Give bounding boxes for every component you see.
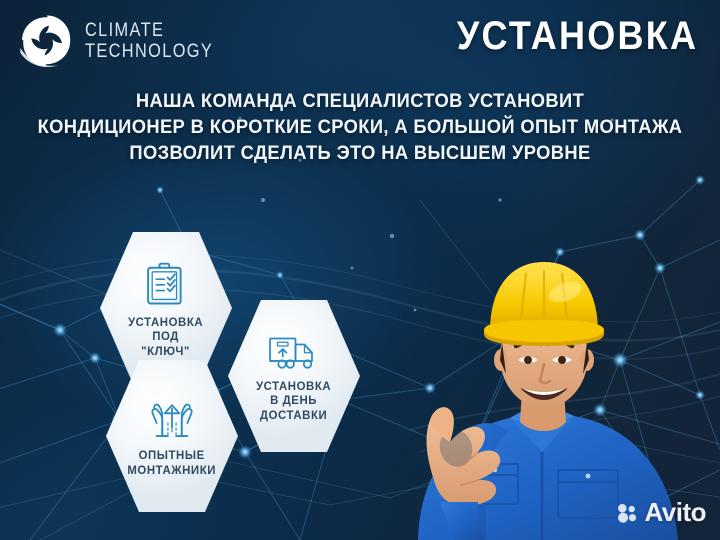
worker-photo <box>360 180 720 540</box>
caring-hands-icon <box>146 395 198 443</box>
avito-label: Avito <box>644 497 706 528</box>
caption-line-1: УСТАНОВКА <box>256 379 331 394</box>
clipboard-checklist-icon <box>140 258 192 310</box>
headline-line-3: ПОЗВОЛИТ СДЕЛАТЬ ЭТО НА ВЫСШЕМ УРОВНЕ <box>22 140 699 166</box>
caption-line-2: В ДЕНЬ <box>256 393 331 408</box>
caption-line-1: ОПЫТНЫЕ <box>128 448 217 463</box>
caption-line-1: УСТАНОВКА <box>128 315 203 330</box>
feature-hex-same-day-caption: УСТАНОВКА В ДЕНЬ ДОСТАВКИ <box>254 379 333 423</box>
headline-block: НАША КОМАНДА СПЕЦИАЛИСТОВ УСТАНОВИТ КОНД… <box>0 88 720 166</box>
feature-hex-experienced-caption: ОПЫТНЫЕ МОНТАЖНИКИ <box>125 448 218 477</box>
caption-line-3: ДОСТАВКИ <box>256 408 331 423</box>
brand-name-line2: TECHNOLOGY <box>85 42 213 61</box>
caption-line-2: ПОД <box>128 329 203 344</box>
headline-line-1: НАША КОМАНДА СПЕЦИАЛИСТОВ УСТАНОВИТ <box>22 88 699 114</box>
promo-poster: CLIMATE TECHNOLOGY УСТАНОВКА НАША КОМАНД… <box>0 0 720 540</box>
delivery-truck-icon <box>267 330 321 374</box>
brand-name-line1: CLIMATE <box>85 21 213 40</box>
headline-line-2: КОНДИЦИОНЕР В КОРОТКИЕ СРОКИ, А БОЛЬШОЙ … <box>22 114 699 140</box>
avito-dots-icon <box>616 502 638 524</box>
brand-logo: CLIMATE TECHNOLOGY <box>18 12 234 70</box>
avito-watermark: Avito <box>616 497 706 528</box>
caption-line-3: "КЛЮЧ" <box>128 344 203 359</box>
swirl-fan-logo-icon <box>18 12 76 70</box>
caption-line-2: МОНТАЖНИКИ <box>128 463 217 478</box>
feature-hex-turnkey-caption: УСТАНОВКА ПОД "КЛЮЧ" <box>126 315 205 359</box>
page-title: УСТАНОВКА <box>457 14 698 59</box>
